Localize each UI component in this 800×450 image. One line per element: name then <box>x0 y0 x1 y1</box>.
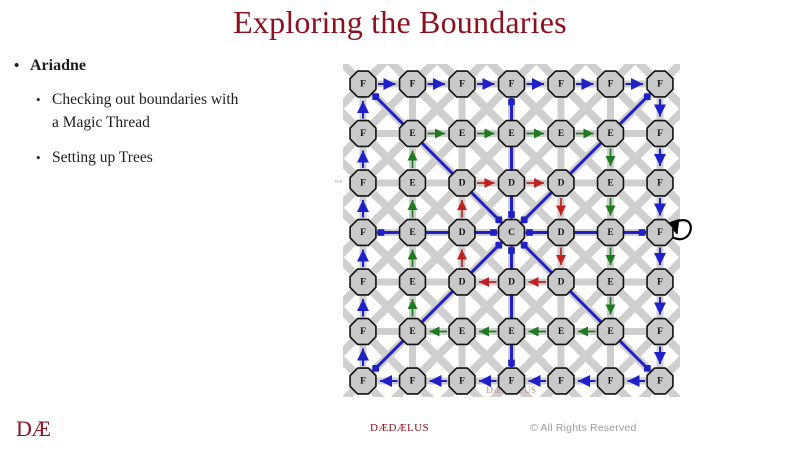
grid-node[interactable]: E <box>449 319 475 345</box>
slide-root: Exploring the Boundaries • Ariadne • Che… <box>0 0 800 450</box>
node-label: F <box>608 377 614 387</box>
footer-copyright: © All Rights Reserved <box>530 422 636 434</box>
node-label: F <box>360 129 366 139</box>
node-label: F <box>657 377 663 387</box>
grid-node[interactable]: E <box>449 121 475 147</box>
grid-node[interactable]: F <box>548 71 574 97</box>
grid-node[interactable]: E <box>400 121 426 147</box>
node-label: F <box>509 377 515 387</box>
node-label: F <box>657 278 663 288</box>
node-label: E <box>459 327 465 337</box>
grid-node[interactable]: F <box>350 170 376 196</box>
node-label: F <box>360 228 366 238</box>
grid-node[interactable]: F <box>647 368 673 394</box>
node-label: D <box>459 278 466 288</box>
node-label: E <box>459 129 465 139</box>
grid-node[interactable]: E <box>598 170 624 196</box>
grid-node[interactable]: E <box>598 121 624 147</box>
node-label: F <box>459 377 465 387</box>
node-label: E <box>558 129 564 139</box>
bullet-marker: • <box>36 146 52 169</box>
grid-node[interactable]: F <box>400 368 426 394</box>
watermark-left: DÆ <box>335 179 342 184</box>
grid-node[interactable]: E <box>400 269 426 295</box>
grid-node[interactable]: F <box>647 170 673 196</box>
node-label: F <box>509 80 515 90</box>
grid-node[interactable]: D <box>499 269 525 295</box>
grid-node[interactable]: F <box>499 71 525 97</box>
node-label: F <box>410 80 416 90</box>
grid-node[interactable]: F <box>647 220 673 246</box>
node-label: D <box>459 228 466 238</box>
node-label: F <box>657 228 663 238</box>
node-label: D <box>558 278 565 288</box>
grid-node[interactable]: D <box>449 220 475 246</box>
grid-node[interactable]: F <box>449 71 475 97</box>
bullet-level2-2: • Setting up Trees <box>36 146 314 169</box>
bullet-marker: • <box>14 56 30 76</box>
bullet-level2-1: • Checking out boundaries with a Magic T… <box>36 88 314 134</box>
grid-node[interactable]: E <box>598 220 624 246</box>
grid-node[interactable]: E <box>400 319 426 345</box>
bullet-level1-label: Ariadne <box>30 56 86 76</box>
node-label: E <box>508 327 514 337</box>
grid-node[interactable]: D <box>449 269 475 295</box>
node-label: E <box>607 228 613 238</box>
node-label: F <box>360 80 366 90</box>
grid-node[interactable]: F <box>647 319 673 345</box>
grid-node[interactable]: D <box>548 220 574 246</box>
grid-node[interactable]: F <box>449 368 475 394</box>
grid-node[interactable]: E <box>598 319 624 345</box>
node-label: F <box>360 179 366 189</box>
node-label: D <box>459 179 466 189</box>
node-label: F <box>657 129 663 139</box>
node-label: F <box>657 179 663 189</box>
node-label: F <box>360 377 366 387</box>
node-label: E <box>409 278 415 288</box>
node-label: D <box>508 179 515 189</box>
node-label: F <box>608 80 614 90</box>
grid-node[interactable]: E <box>598 269 624 295</box>
node-label: C <box>508 228 515 238</box>
grid-node[interactable]: D <box>548 170 574 196</box>
grid-node[interactable]: E <box>548 319 574 345</box>
bullet-level2-1-label: Checking out boundaries with a Magic Thr… <box>52 88 240 134</box>
node-label: E <box>409 228 415 238</box>
node-label: E <box>607 179 613 189</box>
grid-node[interactable]: F <box>647 121 673 147</box>
grid-node[interactable]: D <box>548 269 574 295</box>
node-label: D <box>558 228 565 238</box>
node-label: E <box>409 327 415 337</box>
bullet-level2-2-label: Setting up Trees <box>52 146 153 169</box>
grid-node[interactable]: F <box>350 71 376 97</box>
grid-node[interactable]: F <box>350 220 376 246</box>
node-label: F <box>459 80 465 90</box>
ariadne-boundary-grid: DÆDÆLUSDÆ FFFFFFFFEEEEEFFEDDDEFFEDCDEFFE… <box>330 52 700 397</box>
grid-node[interactable]: F <box>400 71 426 97</box>
node-label: D <box>508 278 515 288</box>
node-label: D <box>558 179 565 189</box>
grid-node[interactable]: E <box>499 121 525 147</box>
grid-node[interactable]: E <box>499 319 525 345</box>
page-title: Exploring the Boundaries <box>0 4 800 41</box>
grid-node[interactable]: F <box>647 71 673 97</box>
node-label: F <box>657 327 663 337</box>
node-label: E <box>558 327 564 337</box>
node-label: F <box>657 80 663 90</box>
bullet-level1: • Ariadne <box>14 56 314 76</box>
grid-node[interactable]: F <box>350 121 376 147</box>
node-label: E <box>607 129 613 139</box>
grid-node[interactable]: F <box>350 319 376 345</box>
node-label: F <box>360 278 366 288</box>
grid-node[interactable]: C <box>499 220 525 246</box>
grid-node[interactable]: F <box>548 368 574 394</box>
grid-node[interactable]: F <box>598 368 624 394</box>
grid-diagram-svg: DÆDÆLUSDÆ FFFFFFFFEEEEEFFEDDDEFFEDCDEFFE… <box>330 52 700 397</box>
bullet-list: • Ariadne • Checking out boundaries with… <box>14 56 314 181</box>
grid-node[interactable]: E <box>548 121 574 147</box>
node-label: F <box>558 80 564 90</box>
node-label: E <box>607 327 613 337</box>
grid-node[interactable]: D <box>449 170 475 196</box>
node-label: E <box>409 129 415 139</box>
grid-node[interactable]: E <box>400 170 426 196</box>
grid-node[interactable]: F <box>598 71 624 97</box>
node-label: E <box>607 278 613 288</box>
node-label: F <box>360 327 366 337</box>
grid-node[interactable]: F <box>350 269 376 295</box>
grid-node[interactable]: D <box>499 170 525 196</box>
brand-logo: DÆ <box>16 416 50 442</box>
footer-brand: DÆDÆLUS <box>370 422 429 434</box>
bullet-marker: • <box>36 88 52 111</box>
grid-node[interactable]: F <box>499 368 525 394</box>
node-label: F <box>558 377 564 387</box>
grid-node[interactable]: F <box>350 368 376 394</box>
grid-node[interactable]: F <box>647 269 673 295</box>
node-label: E <box>409 179 415 189</box>
node-label: E <box>508 129 514 139</box>
grid-node[interactable]: E <box>400 220 426 246</box>
node-label: F <box>410 377 416 387</box>
